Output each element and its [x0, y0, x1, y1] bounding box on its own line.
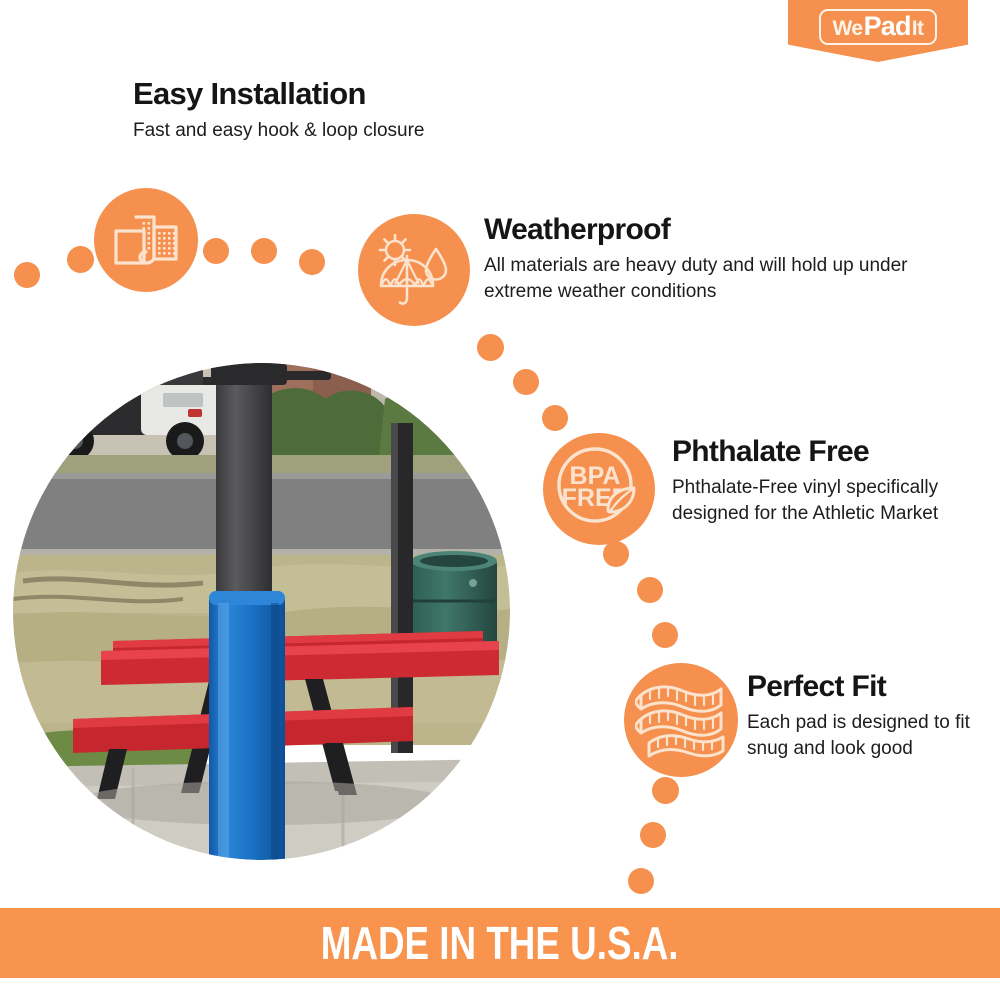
- feature-description: Each pad is designed to fit snug and loo…: [747, 710, 997, 762]
- trail-dot: [14, 262, 40, 288]
- made-in-usa-text: MADE IN THE U.S.A.: [321, 920, 679, 966]
- feature-description: Phthalate-Free vinyl specifically design…: [672, 475, 992, 527]
- hook-and-loop-strap-icon: [94, 188, 198, 292]
- trail-dot: [640, 822, 666, 848]
- product-photo: [13, 363, 510, 860]
- logo-text-it: It: [912, 18, 924, 39]
- feature-easy-installation: Easy Installation Fast and easy hook & l…: [133, 78, 593, 144]
- trail-dot: [637, 577, 663, 603]
- brand-logo: We Pad It: [788, 0, 968, 62]
- feature-title: Phthalate Free: [672, 436, 992, 468]
- feature-description: All materials are heavy duty and will ho…: [484, 253, 914, 305]
- trail-dot: [299, 249, 325, 275]
- infographic-page: We Pad It Easy Installation Fast and eas…: [0, 0, 1000, 987]
- feature-description: Fast and easy hook & loop closure: [133, 118, 593, 144]
- sun-umbrella-raindrop-icon: [358, 214, 470, 326]
- feature-weatherproof: Weatherproof All materials are heavy dut…: [484, 214, 914, 305]
- trail-dot: [203, 238, 229, 264]
- trail-dot: [652, 622, 678, 648]
- bpa-free-leaf-icon: BPA FREE: [543, 433, 655, 545]
- feature-title: Easy Installation: [133, 78, 593, 111]
- feature-perfect-fit: Perfect Fit Each pad is designed to fit …: [747, 671, 997, 762]
- trail-dot: [603, 541, 629, 567]
- trail-dot: [477, 334, 504, 361]
- feature-phthalate-free: Phthalate Free Phthalate-Free vinyl spec…: [672, 436, 992, 527]
- logo-wordmark: We Pad It: [819, 9, 936, 45]
- trail-dot: [652, 777, 679, 804]
- trail-dot: [67, 246, 94, 273]
- feature-title: Weatherproof: [484, 214, 914, 246]
- logo-text-we: We: [832, 18, 862, 39]
- trail-dot: [542, 405, 568, 431]
- trail-dot: [251, 238, 277, 264]
- measuring-tape-icon: [624, 663, 738, 777]
- trail-dot: [513, 369, 539, 395]
- made-in-usa-banner: MADE IN THE U.S.A.: [0, 908, 1000, 978]
- feature-title: Perfect Fit: [747, 671, 997, 703]
- logo-text-pad: Pad: [864, 13, 911, 40]
- trail-dot: [628, 868, 654, 894]
